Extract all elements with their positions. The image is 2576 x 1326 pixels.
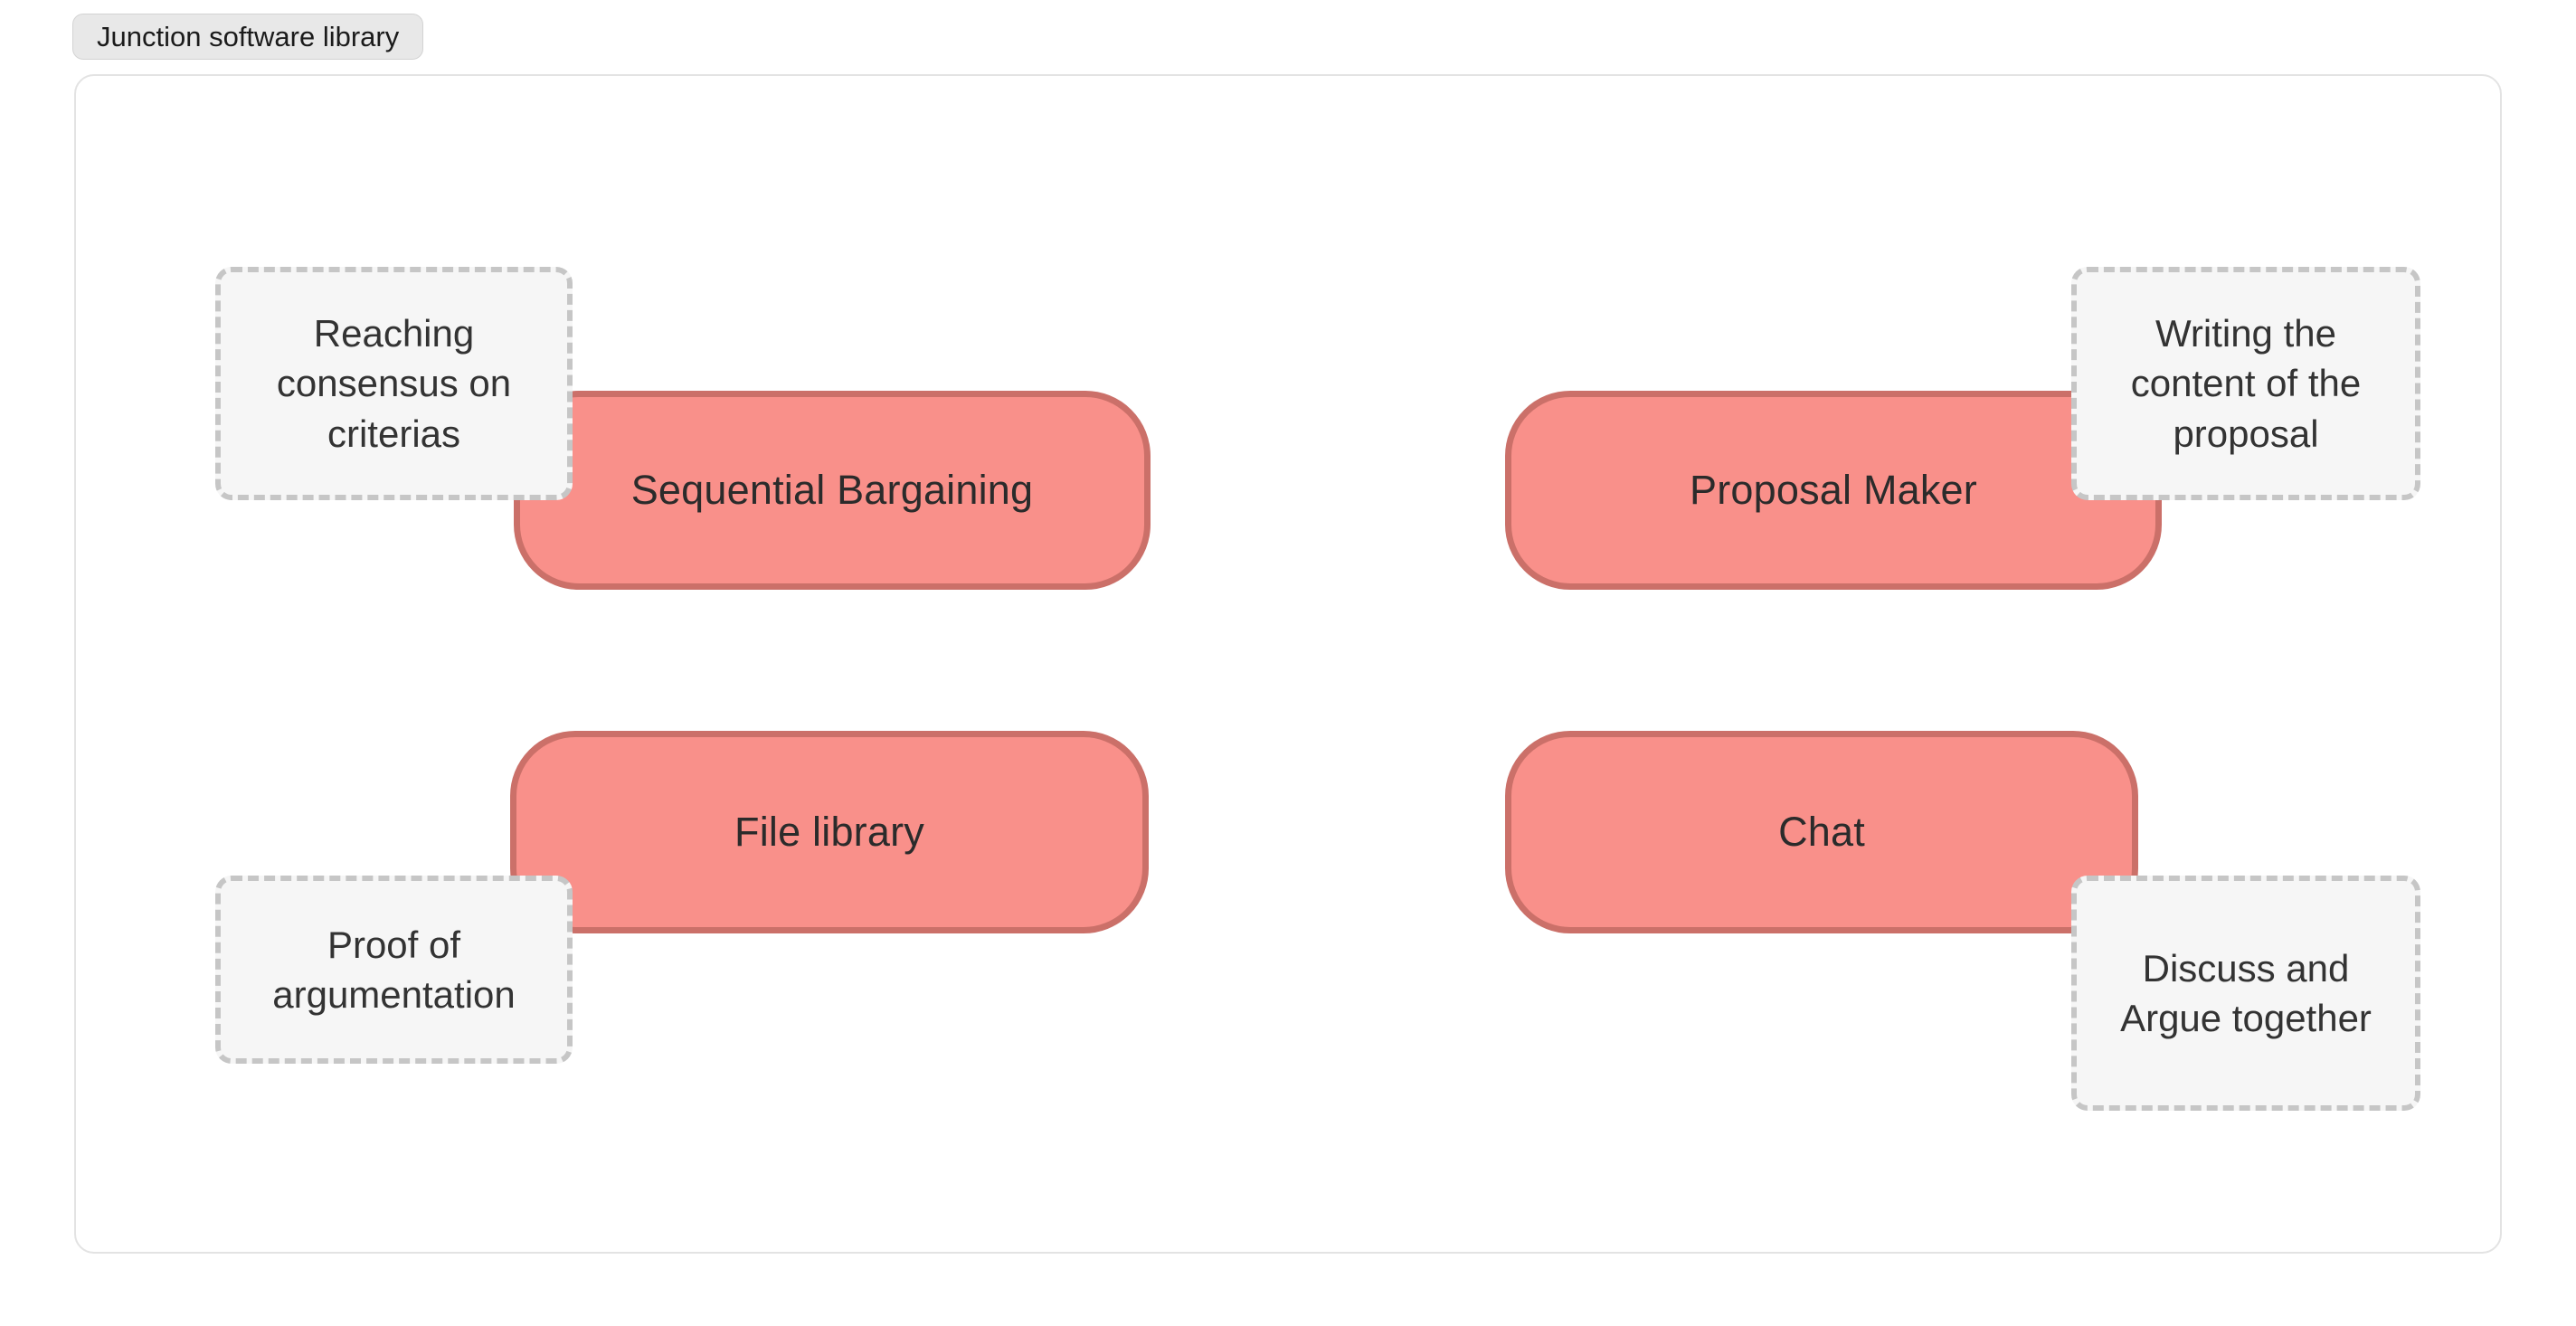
- tab-bar: Junction software library: [0, 0, 2576, 74]
- app-root: Junction software library Sequential Bar…: [0, 0, 2576, 1326]
- node-proposal-maker[interactable]: Proposal Maker: [1505, 391, 2162, 590]
- node-sequential-bargaining[interactable]: Sequential Bargaining: [514, 391, 1151, 590]
- note-proof-of-argumentation[interactable]: Proof of argumentation: [215, 876, 573, 1064]
- note-writing-content[interactable]: Writing the content of the proposal: [2071, 267, 2420, 500]
- note-discuss-and-argue-together[interactable]: Discuss and Argue together: [2071, 876, 2420, 1111]
- node-chat[interactable]: Chat: [1505, 731, 2138, 933]
- node-file-library[interactable]: File library: [510, 731, 1149, 933]
- tab-junction-software-library[interactable]: Junction software library: [72, 14, 423, 60]
- note-reaching-consensus[interactable]: Reaching consensus on criterias: [215, 267, 573, 500]
